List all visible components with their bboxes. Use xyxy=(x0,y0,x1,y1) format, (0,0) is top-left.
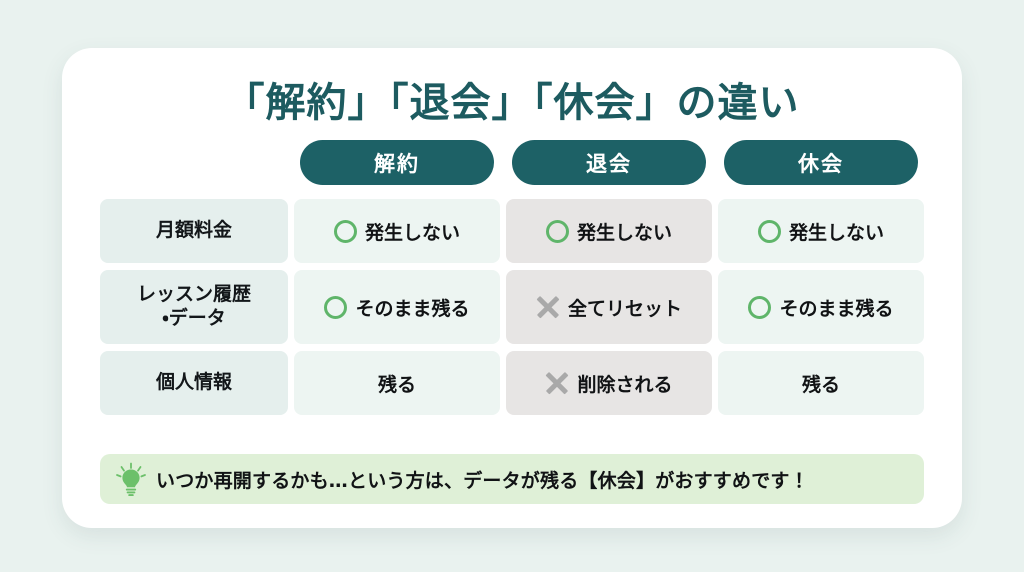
circle-icon xyxy=(546,220,569,243)
cell-kyukai-monthly-fee: 発生しない xyxy=(718,199,924,263)
cell-text: そのまま残る xyxy=(355,294,469,321)
table-row: 個人情報 残る 削除される 残 xyxy=(100,351,924,415)
cell-text: 発生しない xyxy=(365,218,460,245)
cell-content: 全てリセット xyxy=(536,294,682,321)
column-header-kyukai: 休会 xyxy=(718,140,924,192)
column-header-pill: 解約 xyxy=(300,140,494,185)
recommendation-note: いつか再開するかも…という方は、データが残る【休会】がおすすめです！ xyxy=(100,454,924,504)
row-label-monthly-fee: 月額料金 xyxy=(100,199,288,263)
cell-taikai-monthly-fee: 発生しない xyxy=(506,199,712,263)
circle-icon xyxy=(758,220,781,243)
column-header-taikai: 退会 xyxy=(506,140,712,192)
table-row: 月額料金 発生しない 発生しない xyxy=(100,199,924,263)
cell-text: 全てリセット xyxy=(568,294,682,321)
cell-text: そのまま残る xyxy=(779,294,893,321)
cell-content: 発生しない xyxy=(758,218,884,245)
lightbulb-icon xyxy=(114,461,148,497)
screenshot-stage: 「解約」「退会」「休会」の違い 解約 退会 休会 xyxy=(0,0,1024,572)
cell-content: そのまま残る xyxy=(748,294,893,321)
cross-icon xyxy=(545,371,569,395)
row-label-lesson-history: レッスン履歴 ・データ xyxy=(100,270,288,344)
comparison-table: 解約 退会 休会 月額料金 xyxy=(100,140,924,415)
circle-icon xyxy=(748,296,771,319)
row-label-line: 月額料金 xyxy=(156,219,232,243)
row-label-line: 個人情報 xyxy=(156,371,232,395)
cell-content: そのまま残る xyxy=(324,294,469,321)
note-text: いつか再開するかも…という方は、データが残る【休会】がおすすめです！ xyxy=(156,466,809,493)
circle-icon xyxy=(324,296,347,319)
row-gap xyxy=(100,344,924,351)
cell-content: 発生しない xyxy=(546,218,672,245)
table-header-row: 解約 退会 休会 xyxy=(100,140,924,192)
cell-kaiyaku-lesson-history: そのまま残る xyxy=(294,270,500,344)
cell-kaiyaku-personal-info: 残る xyxy=(294,351,500,415)
cell-text: 発生しない xyxy=(577,218,672,245)
cross-icon xyxy=(536,295,560,319)
cell-content: 削除される xyxy=(545,370,672,397)
cell-text: 削除される xyxy=(577,370,672,397)
circle-icon xyxy=(334,220,357,243)
column-header-pill: 退会 xyxy=(512,140,706,185)
cell-text: 残る xyxy=(378,370,416,397)
row-gap xyxy=(100,192,924,199)
table-row: レッスン履歴 ・データ そのまま残る 全てリセット xyxy=(100,270,924,344)
row-label-line: レッスン履歴 xyxy=(137,283,251,307)
cell-taikai-lesson-history: 全てリセット xyxy=(506,270,712,344)
content-card: 「解約」「退会」「休会」の違い 解約 退会 休会 xyxy=(62,48,962,528)
cell-taikai-personal-info: 削除される xyxy=(506,351,712,415)
cell-content: 発生しない xyxy=(334,218,460,245)
cell-kaiyaku-monthly-fee: 発生しない xyxy=(294,199,500,263)
row-gap xyxy=(100,263,924,270)
cell-kyukai-lesson-history: そのまま残る xyxy=(718,270,924,344)
cell-text: 発生しない xyxy=(789,218,884,245)
column-header-pill: 休会 xyxy=(724,140,918,185)
row-label-line: ・データ xyxy=(162,307,225,331)
header-corner-spacer xyxy=(100,140,288,192)
cell-kyukai-personal-info: 残る xyxy=(718,351,924,415)
cell-content: 残る xyxy=(802,370,840,397)
column-header-kaiyaku: 解約 xyxy=(294,140,500,192)
cell-content: 残る xyxy=(378,370,416,397)
cell-text: 残る xyxy=(802,370,840,397)
row-label-personal-info: 個人情報 xyxy=(100,351,288,415)
page-title: 「解約」「退会」「休会」の違い xyxy=(62,70,962,128)
